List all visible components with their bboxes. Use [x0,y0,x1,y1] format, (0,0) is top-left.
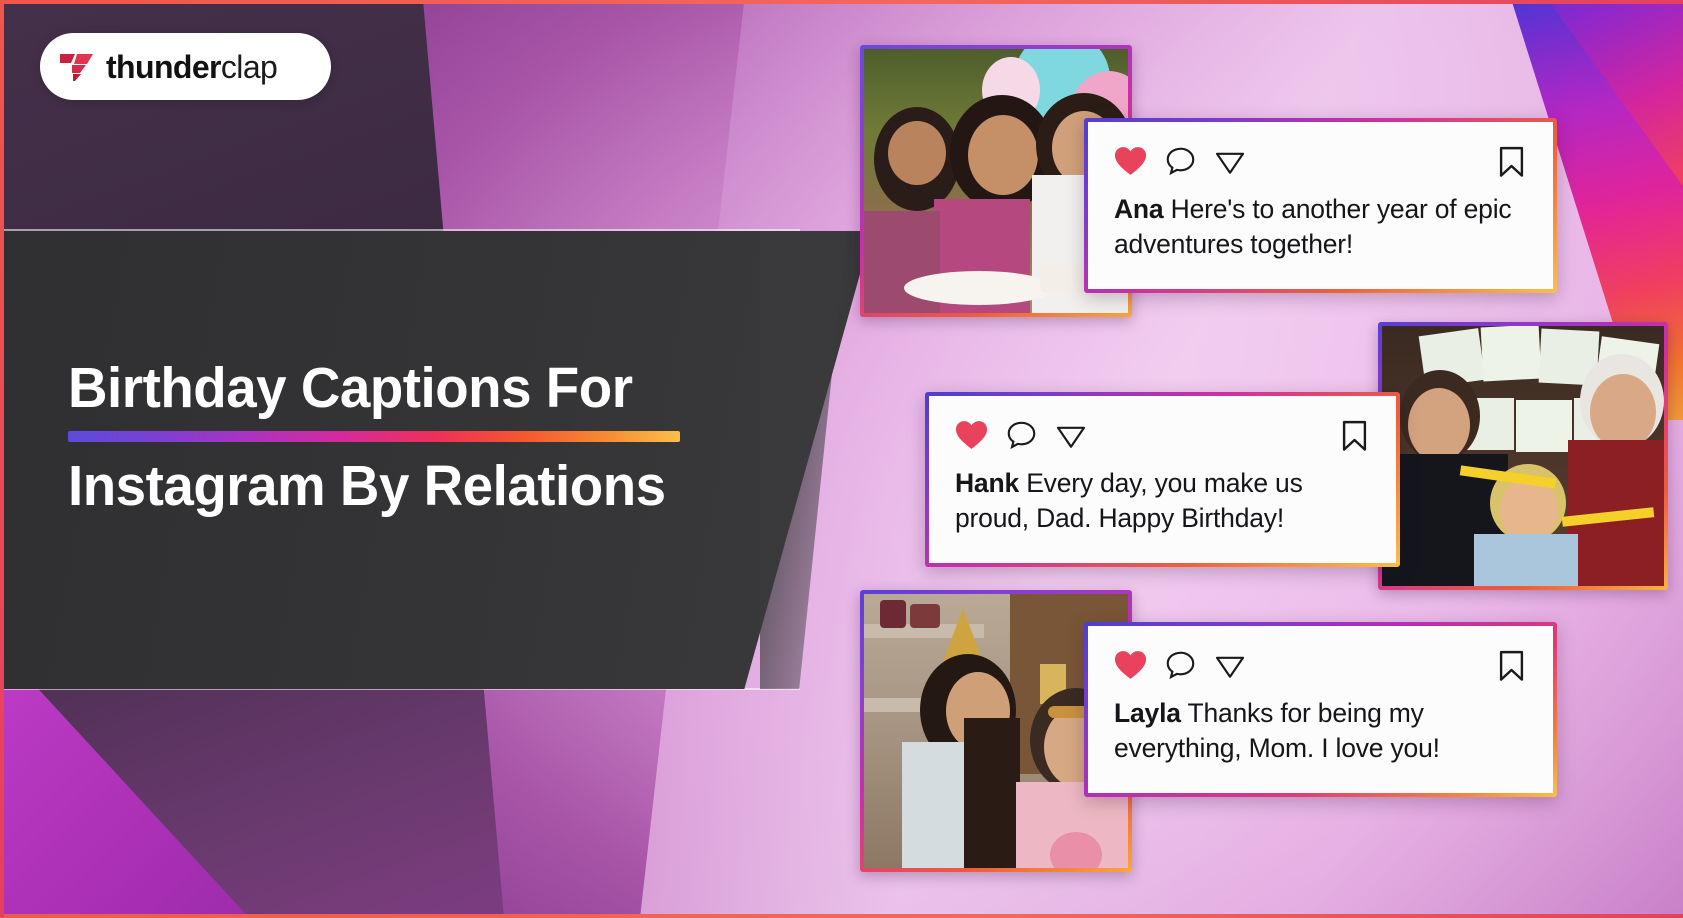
bookmark-icon[interactable] [1498,146,1525,178]
heart-icon[interactable] [955,420,988,450]
comment-icon[interactable] [1165,650,1196,680]
page-title: Birthday Captions For Instagram By Relat… [68,360,848,515]
thunderclap-triangle-mark-icon [60,52,94,82]
post-hank-caption: Hank Every day, you make us proud, Dad. … [955,466,1370,536]
post-hank-photo-image [1382,326,1664,586]
border-left-accent [0,0,4,918]
post-layla-author: Layla [1114,698,1181,728]
border-top-accent [0,0,1683,4]
share-icon[interactable] [1214,146,1246,176]
post-ana-author: Ana [1114,194,1163,224]
page-title-line-1: Birthday Captions For [68,360,817,417]
post-layla-actions [1114,650,1527,680]
post-hank-author: Hank [955,468,1019,498]
brand-name-bold: thunder [106,49,221,85]
post-layla-caption: Layla Thanks for being my everything, Mo… [1114,696,1527,766]
post-hank-actions [955,420,1370,450]
poster-canvas: thunderclap Birthday Captions For Instag… [0,0,1683,918]
post-ana-card: Ana Here's to another year of epic adven… [1084,118,1557,293]
title-divider [68,431,680,442]
post-hank-card: Hank Every day, you make us proud, Dad. … [925,392,1400,567]
share-icon[interactable] [1214,650,1246,680]
comment-icon[interactable] [1165,146,1196,176]
divider-rule-upper [0,229,800,231]
share-icon[interactable] [1055,420,1087,450]
brand-name: thunderclap [106,51,277,83]
page-title-line-2: Instagram By Relations [68,458,817,515]
post-ana-caption: Ana Here's to another year of epic adven… [1114,192,1527,262]
heart-icon[interactable] [1114,146,1147,176]
brand-logo[interactable]: thunderclap [40,33,331,100]
heart-icon[interactable] [1114,650,1147,680]
border-bottom-accent [0,914,1683,918]
post-hank-photo[interactable] [1378,322,1668,590]
bookmark-icon[interactable] [1341,420,1368,452]
post-ana-actions [1114,146,1527,176]
post-layla-card: Layla Thanks for being my everything, Mo… [1084,622,1557,797]
brand-name-light: clap [221,49,277,85]
comment-icon[interactable] [1006,420,1037,450]
bookmark-icon[interactable] [1498,650,1525,682]
post-ana-caption-text: Here's to another year of epic adventure… [1114,194,1511,259]
